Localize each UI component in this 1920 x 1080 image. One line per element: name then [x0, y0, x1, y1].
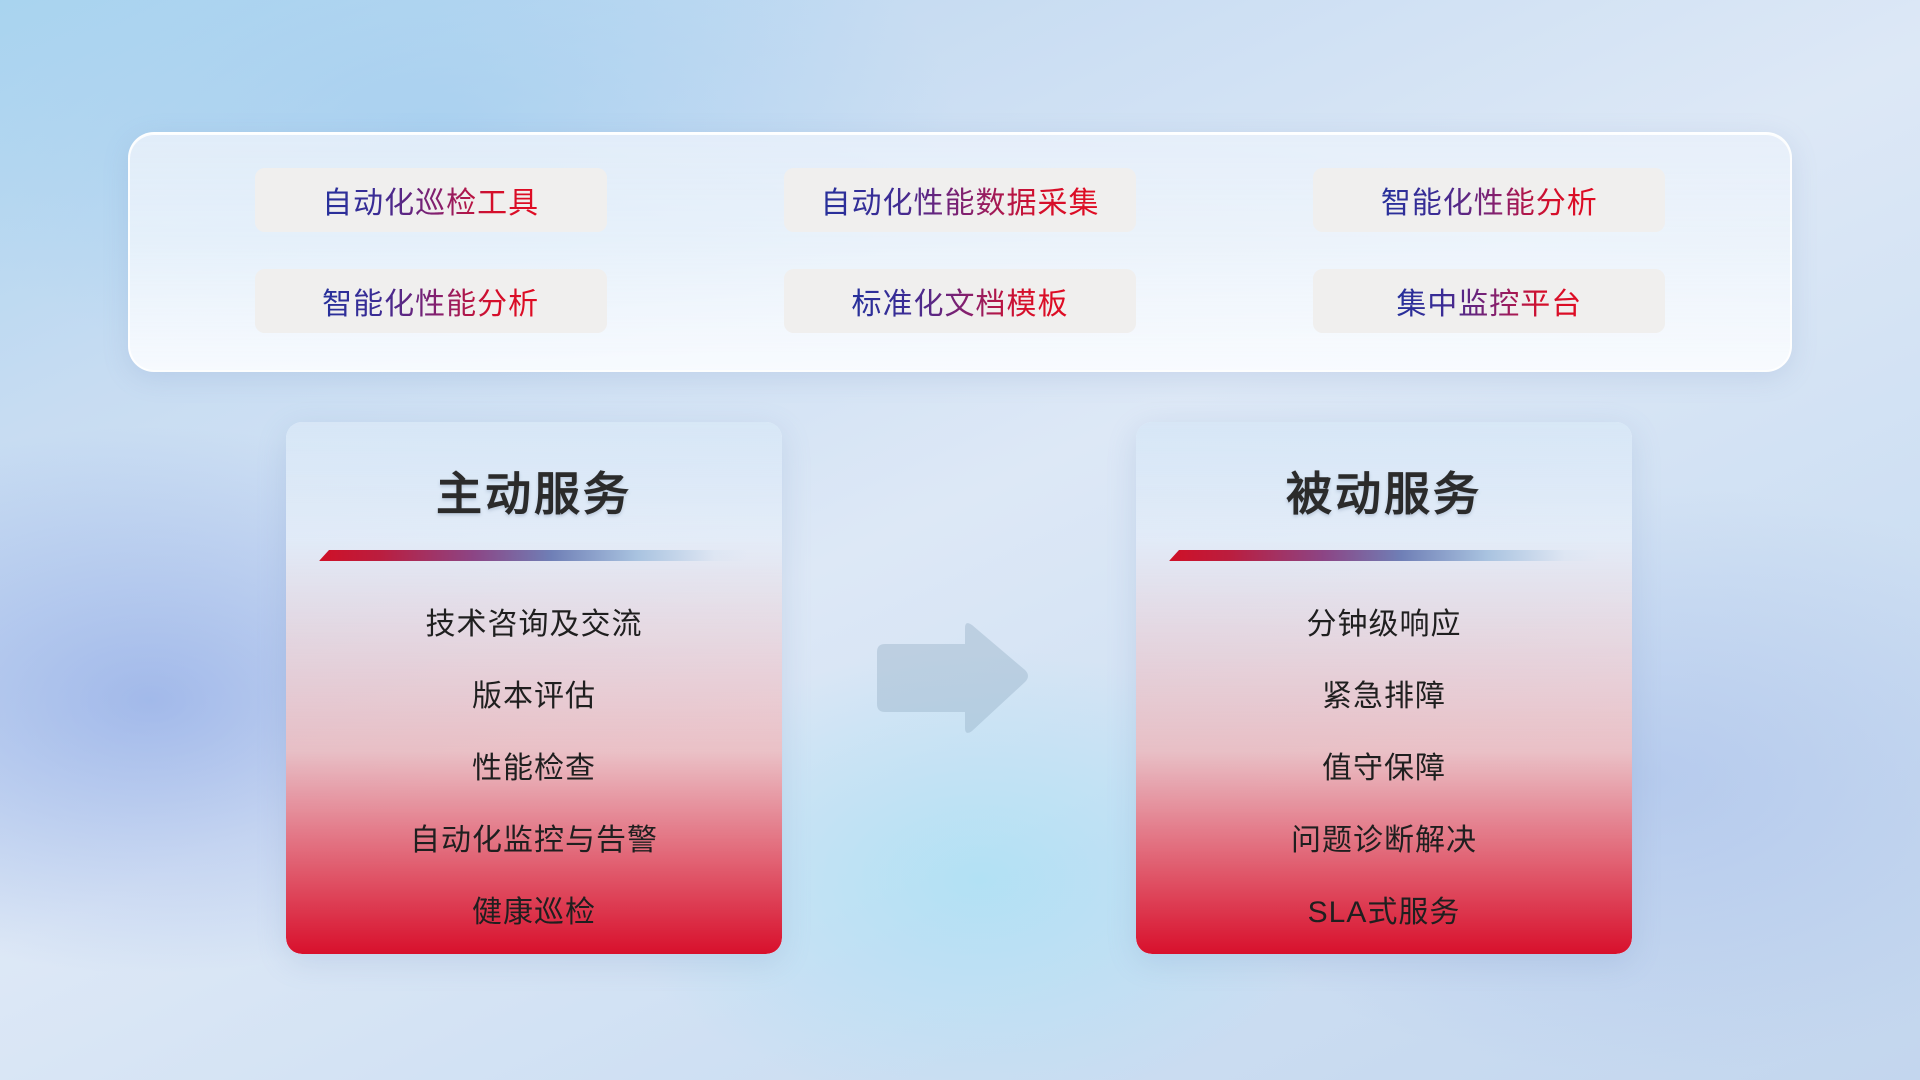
passive-service-title: 被动服务: [1136, 458, 1632, 524]
passive-service-card: 被动服务 分钟级响应 紧急排障 值守保障 问题诊断解决 SLA式服务: [1136, 422, 1632, 954]
chip-label: 集中监控平台: [1396, 279, 1582, 323]
capability-chip-automated-performance-data-collection[interactable]: 自动化性能数据采集: [782, 166, 1138, 234]
list-item: SLA式服务: [1136, 877, 1632, 949]
active-service-card: 主动服务 技术咨询及交流 版本评估 性能检查 自动化监控与告警 健康巡检: [286, 422, 782, 954]
capability-chip-grid: 自动化巡检工具 自动化性能数据采集 智能化性能分析 智能化性能分析 标准化文档模…: [130, 134, 1790, 370]
list-item: 分钟级响应: [1136, 589, 1632, 661]
chip-label: 智能化性能分析: [1381, 178, 1598, 222]
capabilities-panel: 自动化巡检工具 自动化性能数据采集 智能化性能分析 智能化性能分析 标准化文档模…: [128, 132, 1792, 372]
list-item: 问题诊断解决: [1136, 805, 1632, 877]
active-service-list: 技术咨询及交流 版本评估 性能检查 自动化监控与告警 健康巡检: [286, 589, 782, 949]
arrow-right-icon: [873, 618, 1033, 738]
slide-canvas: 自动化巡检工具 自动化性能数据采集 智能化性能分析 智能化性能分析 标准化文档模…: [0, 0, 1920, 1080]
chip-label: 智能化性能分析: [322, 279, 539, 323]
chip-label: 标准化文档模板: [851, 279, 1068, 323]
list-item: 性能检查: [286, 733, 782, 805]
capability-chip-intelligent-performance-analysis[interactable]: 智能化性能分析: [1311, 166, 1667, 234]
list-item: 技术咨询及交流: [286, 589, 782, 661]
active-service-title: 主动服务: [286, 458, 782, 524]
title-underline-accent: [319, 550, 749, 561]
chip-label: 自动化巡检工具: [322, 178, 539, 222]
list-item: 紧急排障: [1136, 661, 1632, 733]
list-item: 健康巡检: [286, 877, 782, 949]
capability-chip-standardized-document-template[interactable]: 标准化文档模板: [782, 267, 1138, 335]
list-item: 值守保障: [1136, 733, 1632, 805]
title-underline-accent: [1169, 550, 1599, 561]
list-item: 版本评估: [286, 661, 782, 733]
capability-chip-intelligent-performance-analysis-2[interactable]: 智能化性能分析: [253, 267, 609, 335]
capability-chip-automated-inspection-tool[interactable]: 自动化巡检工具: [253, 166, 609, 234]
passive-service-list: 分钟级响应 紧急排障 值守保障 问题诊断解决 SLA式服务: [1136, 589, 1632, 949]
list-item: 自动化监控与告警: [286, 805, 782, 877]
capability-chip-centralized-monitoring-platform[interactable]: 集中监控平台: [1311, 267, 1667, 335]
chip-label: 自动化性能数据采集: [820, 178, 1099, 222]
